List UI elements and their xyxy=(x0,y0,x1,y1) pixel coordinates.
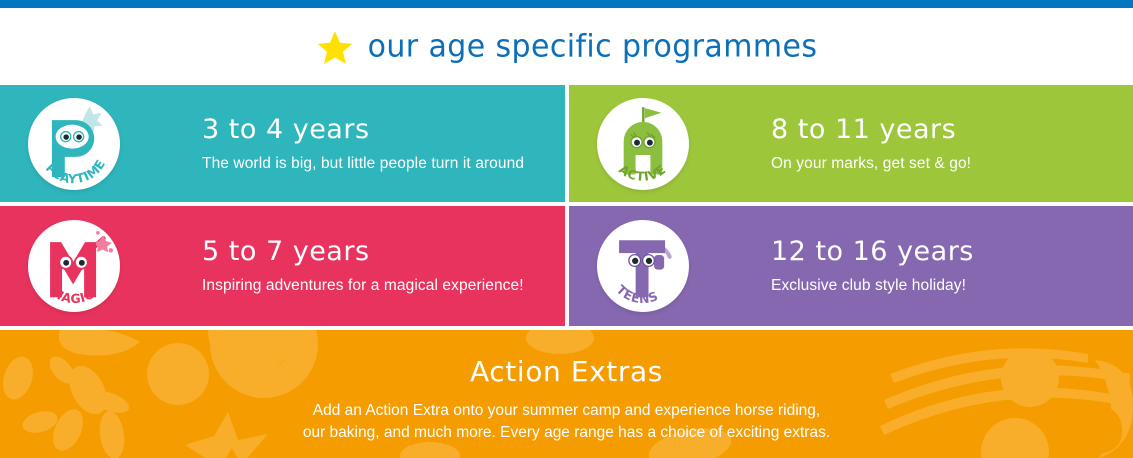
magic-m-mascot-icon: MAGIC xyxy=(28,220,120,312)
playtime-text-block: 3 to 4 years The world is big, but littl… xyxy=(202,115,542,173)
active-heading: 8 to 11 years xyxy=(771,115,971,145)
page-root: our age specific programmes xyxy=(0,0,1133,458)
teens-heading: 12 to 16 years xyxy=(771,237,974,267)
action-extras-line-2: our baking, and much more. Every age ran… xyxy=(0,422,1133,444)
star-icon xyxy=(316,29,354,67)
action-extras-content: Action Extras Add an Action Extra onto y… xyxy=(0,330,1133,444)
action-extras-title: Action Extras xyxy=(0,356,1133,388)
teens-badge: TEENS xyxy=(597,220,689,312)
playtime-p-mascot-icon: PLAYTIME xyxy=(28,98,120,190)
magic-description: Inspiring adventures for a magical exper… xyxy=(202,276,524,295)
active-a-mascot-icon: ACTIVE xyxy=(597,98,689,190)
programme-card-teens[interactable]: TEENS 12 to 16 years Exclusive club styl… xyxy=(569,206,1133,326)
page-title: our age specific programmes xyxy=(368,28,818,64)
playtime-heading: 3 to 4 years xyxy=(202,115,524,145)
programme-card-magic[interactable]: MAGIC 5 to 7 years Inspiring adventures … xyxy=(0,206,565,326)
programme-card-grid: PLAYTIME 3 to 4 years The world is big, … xyxy=(0,85,1133,326)
active-badge: ACTIVE xyxy=(597,98,689,190)
teens-text-block: 12 to 16 years Exclusive club style holi… xyxy=(771,237,992,295)
teens-description: Exclusive club style holiday! xyxy=(771,276,974,295)
magic-heading: 5 to 7 years xyxy=(202,237,524,267)
action-extras-banner: Action Extras Add an Action Extra onto y… xyxy=(0,330,1133,458)
playtime-description: The world is big, but little people turn… xyxy=(202,154,524,173)
magic-badge: MAGIC xyxy=(28,220,120,312)
active-description: On your marks, get set & go! xyxy=(771,154,971,173)
section-header: our age specific programmes xyxy=(0,8,1133,85)
playtime-badge: PLAYTIME xyxy=(28,98,120,190)
magic-text-block: 5 to 7 years Inspiring adventures for a … xyxy=(202,237,542,295)
active-text-block: 8 to 11 years On your marks, get set & g… xyxy=(771,115,989,173)
programme-card-active[interactable]: ACTIVE 8 to 11 years On your marks, get … xyxy=(569,85,1133,202)
programme-card-playtime[interactable]: PLAYTIME 3 to 4 years The world is big, … xyxy=(0,85,565,202)
svg-text:MAGIC: MAGIC xyxy=(48,284,96,307)
teens-t-mascot-icon: TEENS xyxy=(597,220,689,312)
action-extras-line-1: Add an Action Extra onto your summer cam… xyxy=(0,400,1133,422)
top-accent-bar xyxy=(0,0,1133,8)
